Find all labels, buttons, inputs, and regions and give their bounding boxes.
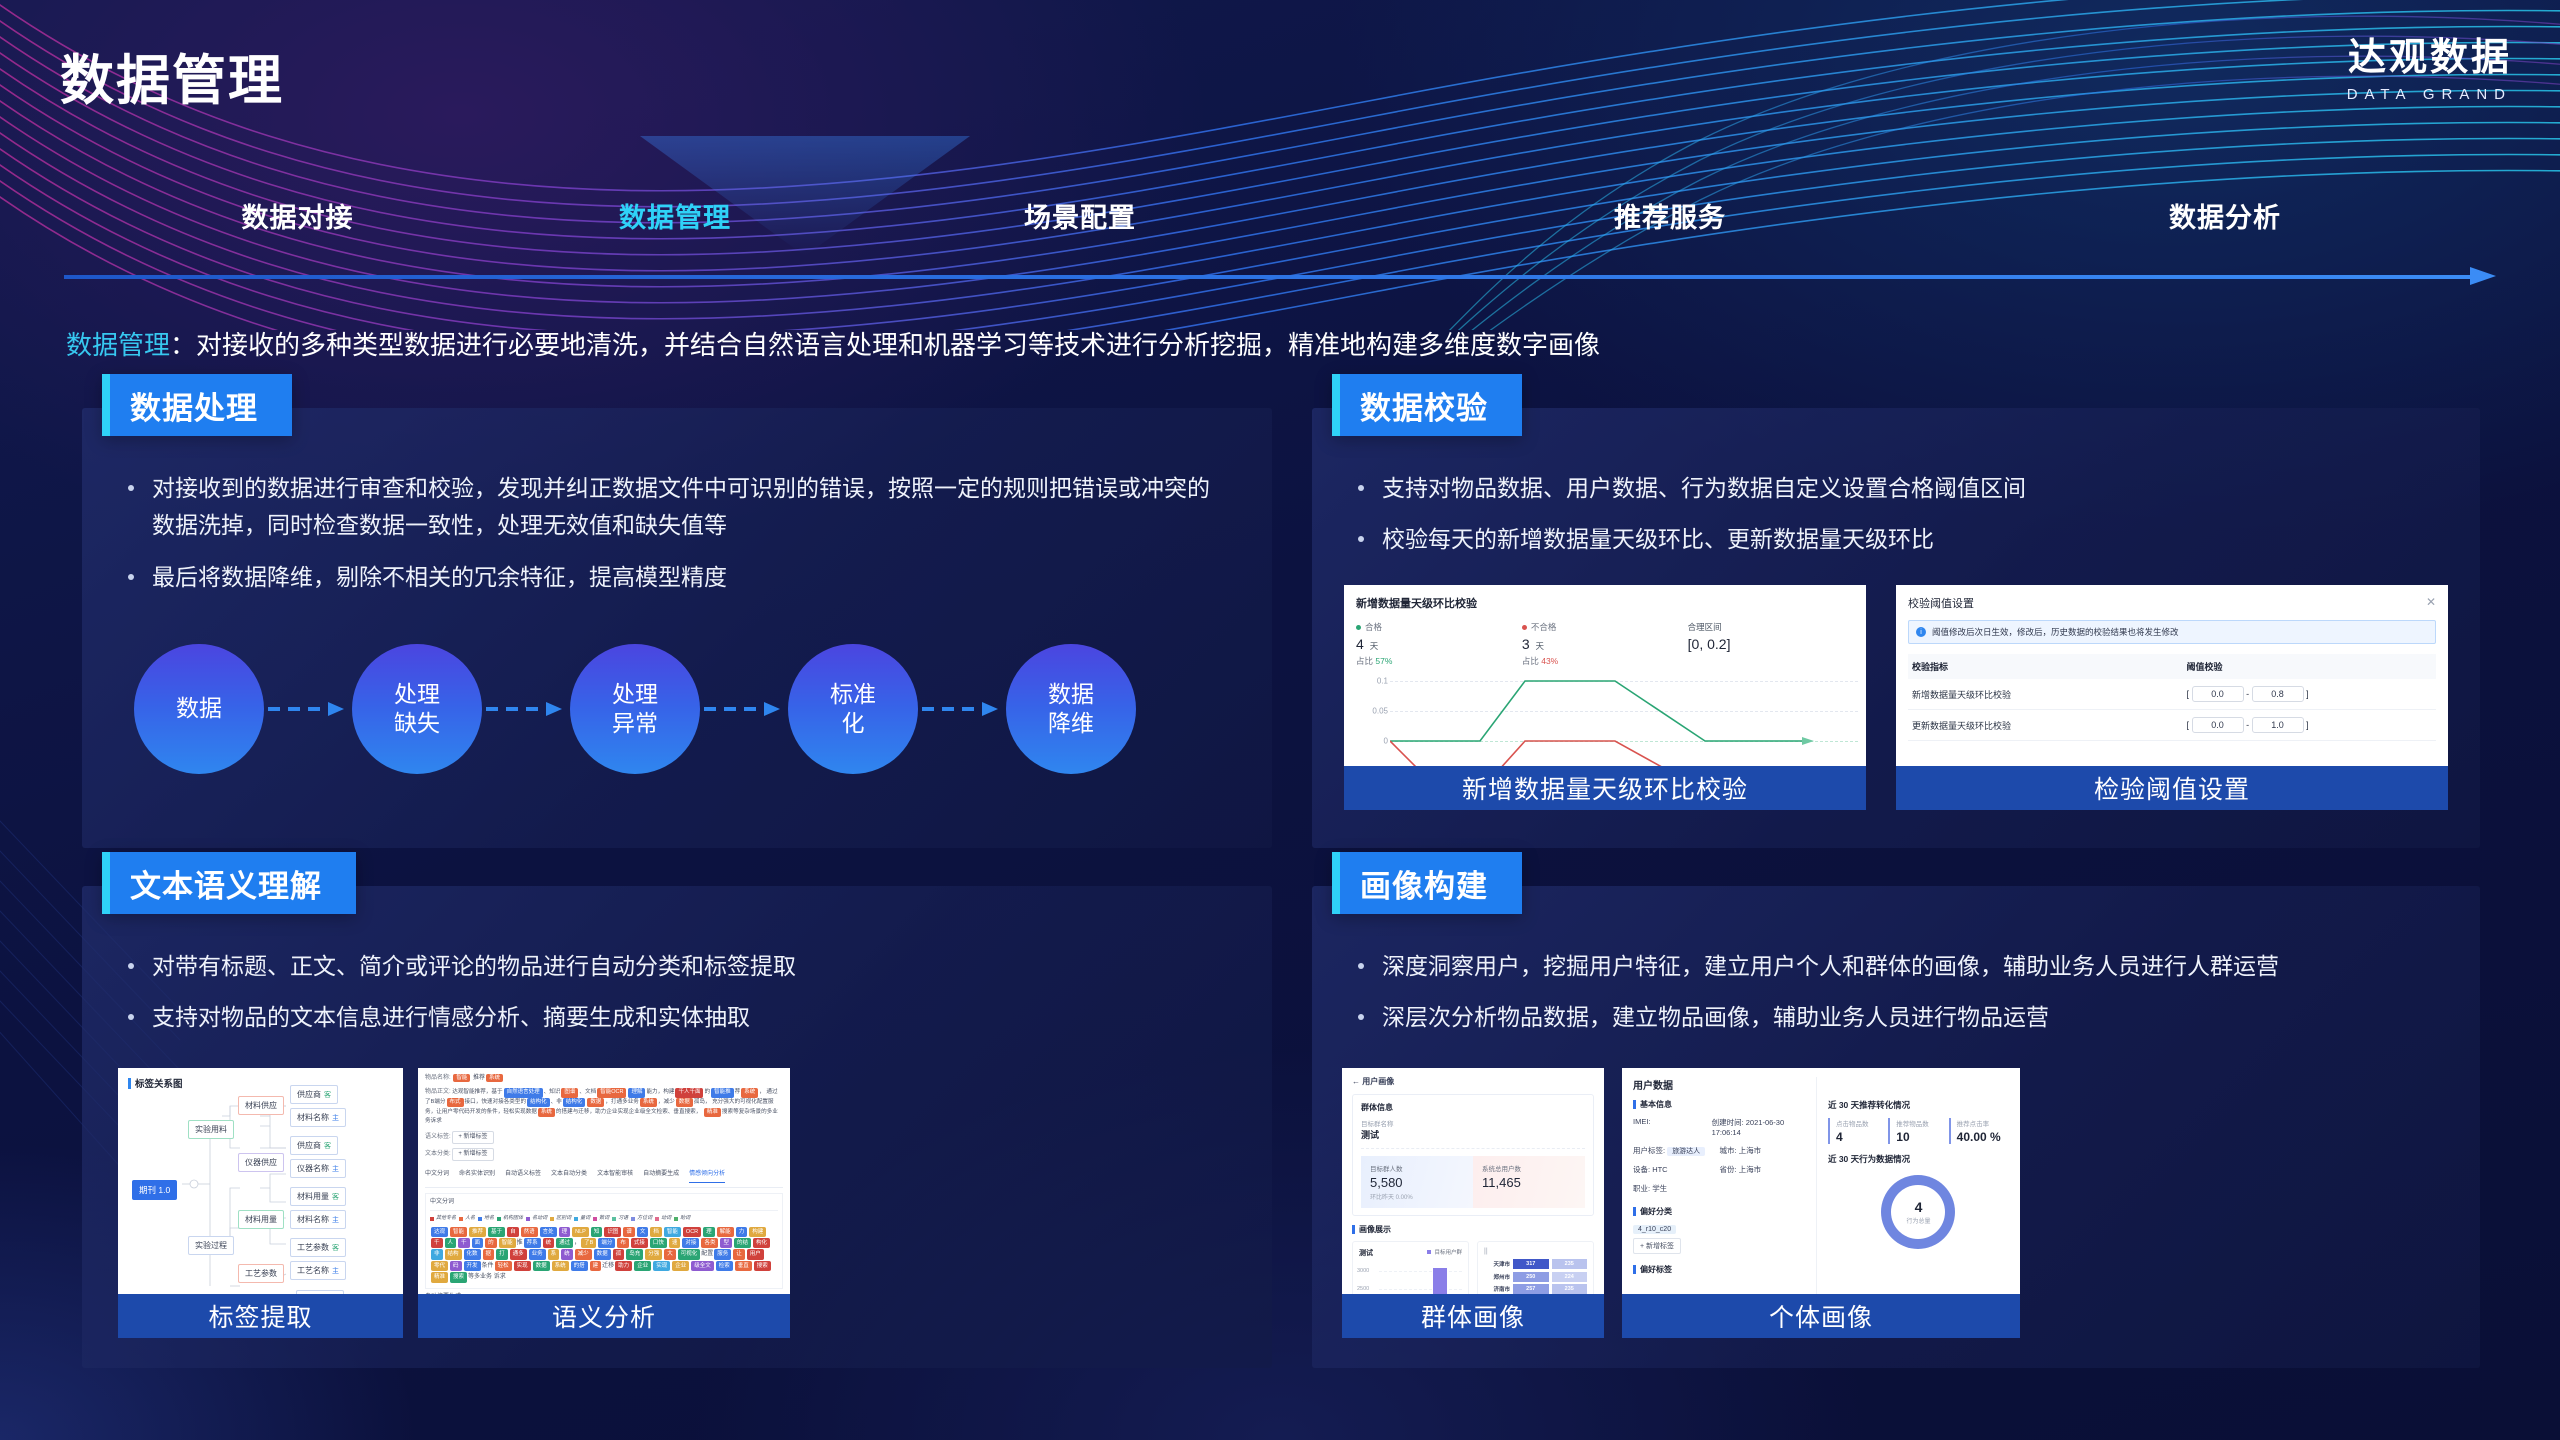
back-label: 用户画像 xyxy=(1362,1077,1394,1086)
table-row: 天津市317235 xyxy=(1484,1259,1587,1269)
metric-value: 40.00 % xyxy=(1957,1130,2009,1144)
y-tick-label: 2500 xyxy=(1357,1286,1369,1292)
stat-target-count: 目标群人数 5,580 环比昨天 0.00% xyxy=(1361,1156,1473,1208)
legend-entry: 量词 xyxy=(574,1215,590,1223)
range-label: 合理区间 xyxy=(1688,621,1722,633)
screenshot-tag-mindmap[interactable]: 标签关系图 xyxy=(118,1068,403,1338)
bullet-list-text-semantics: 对带有标题、正文、简介或评论的物品进行自动分类和标签提取 支持对物品的文本信息进… xyxy=(122,948,1244,1051)
mindmap-root-node: 期刊 1.0 xyxy=(132,1180,177,1200)
bullet-text: 深度洞察用户，挖掘用户特征，建立用户个人和群体的画像，辅助业务人员进行人群运营 xyxy=(1382,948,2279,985)
donut-center: 4 行为总量 xyxy=(1906,1199,1930,1225)
legend-pass-value: 4 xyxy=(1356,636,1364,652)
screenshot-caption: 检验阈值设置 xyxy=(1896,766,2448,810)
entity-chip: 系统 xyxy=(486,1074,503,1082)
arrow-left-icon: ← xyxy=(1352,1077,1360,1086)
basic-info-section-title: 基本信息 xyxy=(1633,1099,1806,1110)
card-text-semantics: 文本语义理解 对带有标题、正文、简介或评论的物品进行自动分类和标签提取 支持对物… xyxy=(82,886,1272,1368)
stat-total-users: 系统总用户数 11,465 xyxy=(1473,1156,1585,1208)
bullet-text: 深层次分析物品数据，建立物品画像，辅助业务人员进行物品运营 xyxy=(1382,999,2049,1036)
subtitle-text: 对接收的多种类型数据进行必要地清洗，并结合自然语言处理和机器学习等技术进行分析挖… xyxy=(196,330,1600,360)
legend-entry: 人名 xyxy=(459,1215,475,1223)
list-item: 对带有标题、正文、简介或评论的物品进行自动分类和标签提取 xyxy=(122,948,1244,985)
legend-entry: 动词 xyxy=(655,1215,671,1223)
text-class-label: 文本分类: xyxy=(425,1151,451,1157)
legend-pass-ratio-row: 占比 57% xyxy=(1356,655,1522,667)
flow-arrow-icon xyxy=(700,702,788,716)
legend-entry: 地名 xyxy=(478,1215,494,1223)
legend-fail-value: 3 xyxy=(1522,636,1530,652)
field-device: 设备: HTC xyxy=(1633,1164,1719,1175)
close-icon[interactable]: ✕ xyxy=(2426,595,2436,609)
bullet-dot-icon xyxy=(1358,536,1364,542)
mindmap-leaf: 材料名称主 xyxy=(290,1210,346,1229)
card-title-label: 画像构建 xyxy=(1360,861,1488,906)
flow-node-data: 数据 xyxy=(134,644,264,774)
legend-pass-label: 合格 xyxy=(1365,621,1382,633)
legend-entry: 名动词 xyxy=(526,1215,547,1223)
mindmap-leaf: 供应商客 xyxy=(290,1136,338,1155)
column-header-metric: 校验指标 xyxy=(1908,654,2183,679)
flow-arrow-icon xyxy=(264,702,352,716)
validation-chart-title: 新增数据量天级环比校验 xyxy=(1356,595,1854,611)
pos-legend: 其他专名 人名 地名 机构团体 名动词 区别词 量词 数词 习语 方位词 动词 … xyxy=(430,1215,778,1223)
legend-fail-label: 不合格 xyxy=(1531,621,1557,633)
card-title-label: 数据校验 xyxy=(1360,383,1488,428)
legend-entry: 方位词 xyxy=(631,1215,652,1223)
card-title-label: 文本语义理解 xyxy=(130,861,322,906)
panel-title: 中文分词 xyxy=(430,1198,778,1211)
semantic-tabs: 中文分词 命名实体识别 自动语义标签 文本自动分类 文本智能审核 自动摘要生成 … xyxy=(425,1166,783,1188)
conversion-metrics: 点击物品数 4 推荐物品数 10 推荐点击率 40.00 % xyxy=(1828,1118,2009,1144)
semantic-panel: 中文分词 其他专名 人名 地名 机构团体 名动词 区别词 量词 数词 习语 方位… xyxy=(425,1193,783,1288)
field-row: 用户标签: 旅游达人 城市: 上海市 xyxy=(1633,1145,1806,1156)
table-header-row: 校验指标 阈值校验 xyxy=(1908,654,2436,679)
user-data-title: 用户数据 xyxy=(1633,1077,1673,1092)
legend-fail-marker-icon xyxy=(1522,625,1527,630)
field-row: 职业: 学生 xyxy=(1633,1183,1806,1194)
y-tick-label: 3000 xyxy=(1357,1268,1369,1274)
info-icon: i xyxy=(1916,627,1926,637)
legend-entry: 其他专名 xyxy=(430,1215,456,1223)
table-row: 郑州市250224 xyxy=(1484,1272,1587,1282)
add-semantic-tag-button[interactable]: + 新增标签 xyxy=(452,1131,493,1144)
user-tag-badge: 旅游达人 xyxy=(1667,1147,1705,1156)
item-body-row: 物品正文: 达观智能推荐，基于自然语言处理、知识图谱、文档智能OCR理解能力，构… xyxy=(425,1087,783,1127)
semantic-tag-label: 语义标签: xyxy=(425,1134,451,1140)
basic-info-column: 基本信息 IMEI: 创建时间: 2021-06-30 17:06:14 用户标… xyxy=(1633,1077,1806,1329)
bullet-dot-icon xyxy=(128,485,134,491)
nav-item-data-docking[interactable]: 数据对接 xyxy=(0,196,595,235)
flow-node-label: 数据 降维 xyxy=(1048,680,1094,739)
item-body-label: 物品正文: xyxy=(425,1089,451,1095)
mindmap-leaf: 供应商客 xyxy=(290,1085,338,1104)
field-user-tag: 用户标签: 旅游达人 xyxy=(1633,1145,1719,1156)
range-label-row: 合理区间 xyxy=(1688,621,1854,633)
item-name-row: 物品名称: 智能 推荐系统 xyxy=(425,1074,783,1083)
dialog-title: 校验阈值设置 xyxy=(1908,595,2436,611)
legend-entry: 区别词 xyxy=(550,1215,571,1223)
metric-value: 4 xyxy=(1836,1130,1888,1144)
card-data-validation: 数据校验 支持对物品数据、用户数据、行为数据自定义设置合格阈值区间 校验每天的新… xyxy=(1312,408,2480,848)
subtitle-key: 数据管理 xyxy=(66,330,170,360)
legend-fail-ratio-row: 占比 43% xyxy=(1522,655,1688,667)
donut-value: 4 xyxy=(1906,1199,1930,1215)
flow-node-label: 处理 异常 xyxy=(612,680,658,739)
nav-arrow-bar xyxy=(64,275,2472,279)
tab-auto-classification[interactable]: 文本自动分类 xyxy=(551,1170,587,1183)
stat-value: 11,465 xyxy=(1482,1175,1576,1190)
metric-label: 推荐点击率 xyxy=(1957,1118,2009,1128)
cell-metric: 更新数据量天级环比校验 xyxy=(1908,710,2183,741)
back-button[interactable]: ← 用户画像 xyxy=(1352,1076,1594,1087)
nav-item-data-analysis[interactable]: 数据分析 xyxy=(1935,196,2515,235)
screenshot-group-portrait[interactable]: ← 用户画像 群体信息 目标群名称 测试 目标群人数 5,580 环比昨天 0.… xyxy=(1342,1068,1604,1338)
screenshot-semantic-analysis[interactable]: 物品名称: 智能 推荐系统 物品正文: 达观智能推荐，基于自然语言处理、知识图谱… xyxy=(418,1068,790,1338)
tab-chinese-segmentation[interactable]: 中文分词 xyxy=(425,1170,449,1183)
card-title-label: 数据处理 xyxy=(130,383,258,428)
bullet-text: 最后将数据降维，剔除不相关的冗余特征，提高模型精度 xyxy=(152,559,727,596)
list-item: 对接收到的数据进行审查和校验，发现并纠正数据文件中可识别的错误，按照一定的规则把… xyxy=(122,470,1244,545)
nav-arrow-head-icon xyxy=(2470,267,2496,285)
group-info-title: 群体信息 xyxy=(1361,1102,1585,1113)
nav-item-data-management[interactable]: 数据管理 xyxy=(595,196,755,235)
bullet-list-portrait: 深度洞察用户，挖掘用户特征，建立用户个人和群体的画像，辅助业务人员进行人群运营 … xyxy=(1352,948,2452,1051)
screenshot-caption: 新增数据量天级环比校验 xyxy=(1344,766,1866,810)
legend-pass-label-row: 合格 xyxy=(1356,621,1522,633)
mindmap-leaf: 工艺名称主 xyxy=(290,1261,346,1280)
legend-fail: 不合格 3 天 占比 43% xyxy=(1522,621,1688,667)
bullet-text: 对接收到的数据进行审查和校验，发现并纠正数据文件中可识别的错误，按照一定的规则把… xyxy=(152,470,1212,545)
card-title-data-processing: 数据处理 xyxy=(102,374,292,436)
flow-node-missing: 处理 缺失 xyxy=(352,644,482,774)
screenshot-individual-portrait[interactable]: 用户数据 基本信息 IMEI: 创建时间: 2021-06-30 17:06:1… xyxy=(1622,1068,2020,1338)
section-subtitle: 数据管理：对接收的多种类型数据进行必要地清洗，并结合自然语言处理和机器学习等技术… xyxy=(66,325,1600,362)
bullet-text: 对带有标题、正文、简介或评论的物品进行自动分类和标签提取 xyxy=(152,948,796,985)
bullet-text: 支持对物品的文本信息进行情感分析、摘要生成和实体抽取 xyxy=(152,999,750,1036)
bullet-dot-icon xyxy=(1358,485,1364,491)
process-flow-diagram: 数据 处理 缺失 处理 异常 标准 化 数据 降维 xyxy=(134,644,1136,774)
behaviour-section-title: 近 30 天行为数据情况 xyxy=(1828,1153,2009,1165)
legend-pass-unit: 天 xyxy=(1370,641,1379,651)
mindmap-leaf: 仪器名称主 xyxy=(290,1159,346,1178)
list-item: 校验每天的新增数据量天级环比、更新数据量天级环比 xyxy=(1352,521,2452,558)
bullet-dot-icon xyxy=(128,1014,134,1020)
flow-arrow-icon xyxy=(918,702,1006,716)
screenshot-caption: 语义分析 xyxy=(418,1294,790,1338)
field-row: IMEI: 创建时间: 2021-06-30 17:06:14 xyxy=(1633,1117,1806,1137)
threshold-max-input[interactable]: 1.0 xyxy=(2252,717,2304,733)
behaviour-column: 近 30 天推荐转化情况 点击物品数 4 推荐物品数 10 推荐点击率 40.0 xyxy=(1816,1077,2009,1329)
pref-tag-section-title: 偏好标签 xyxy=(1633,1264,1806,1275)
legend-marker-icon xyxy=(1427,1250,1431,1254)
table-row: 更新数据量天级环比校验 [ 0.0 - 1.0 ] xyxy=(1908,710,2436,741)
group-name-label: 目标群名称 xyxy=(1361,1118,1585,1128)
flow-node-standardize: 标准 化 xyxy=(788,644,918,774)
group-stats: 目标群人数 5,580 环比昨天 0.00% 系统总用户数 11,465 xyxy=(1361,1148,1585,1208)
bullet-list-data-validation: 支持对物品数据、用户数据、行为数据自定义设置合格阈值区间 校验每天的新增数据量天… xyxy=(1352,470,2452,573)
nav-progress-arrow xyxy=(64,274,2496,280)
legend-pass: 合格 4 天 占比 57% xyxy=(1356,621,1522,667)
field-province: 省份: 上海市 xyxy=(1719,1164,1761,1175)
legend-pass-ratio: 57% xyxy=(1375,656,1392,666)
stat-value: 5,580 xyxy=(1370,1175,1464,1190)
bullet-dot-icon xyxy=(128,963,134,969)
flow-node-label: 处理 缺失 xyxy=(394,680,440,739)
text-class-row: 文本分类: + 新增标签 xyxy=(425,1148,783,1161)
pref-class-section-title: 偏好分类 xyxy=(1633,1206,1806,1217)
tab-ner[interactable]: 命名实体识别 xyxy=(459,1170,495,1183)
tab-auto-summary[interactable]: 自动摘要生成 xyxy=(643,1170,679,1183)
y-tick-label: 0.1 xyxy=(1377,677,1388,686)
portrait-display-section-title: 画像展示 xyxy=(1352,1224,1594,1235)
stat-label: 系统总用户数 xyxy=(1482,1163,1576,1173)
y-tick-label: 0 xyxy=(1384,737,1388,746)
mindmap-node-l2: 工艺参数 xyxy=(238,1264,284,1283)
legend-pass-value-row: 4 天 xyxy=(1356,636,1522,652)
field-imei: IMEI: xyxy=(1633,1117,1712,1137)
gridline xyxy=(1379,1271,1462,1272)
list-item: 最后将数据降维，剔除不相关的冗余特征，提高模型精度 xyxy=(122,559,1244,596)
card-portrait-building: 画像构建 深度洞察用户，挖掘用户特征，建立用户个人和群体的画像，辅助业务人员进行… xyxy=(1312,886,2480,1368)
screenshot-validation-chart[interactable]: 新增数据量天级环比校验 合格 4 天 占比 57% xyxy=(1344,585,1866,810)
flow-arrow-icon xyxy=(482,702,570,716)
bullet-text: 支持对物品数据、用户数据、行为数据自定义设置合格阈值区间 xyxy=(1382,470,2026,507)
field-row: 设备: HTC 省份: 上海市 xyxy=(1633,1164,1806,1175)
bullet-dot-icon xyxy=(128,574,134,580)
mindmap-node-l2: 仪器供应 xyxy=(238,1153,284,1172)
mindmap-node-l2: 材料供应 xyxy=(238,1096,284,1115)
metric-ctr: 推荐点击率 40.00 % xyxy=(1949,1118,2009,1144)
bullet-dot-icon xyxy=(1358,963,1364,969)
metric-value: 10 xyxy=(1896,1130,1948,1144)
field-city: 城市: 上海市 xyxy=(1719,1145,1761,1156)
group-name-value: 测试 xyxy=(1361,1128,1585,1141)
legend-pass-marker-icon xyxy=(1356,625,1361,630)
donut-label: 行为总量 xyxy=(1906,1216,1930,1225)
dialog-notice-text: 阈值修改后次日生效，修改后，历史数据的校验结果也将发生修改 xyxy=(1932,626,2179,638)
list-item: 支持对物品的文本信息进行情感分析、摘要生成和实体抽取 xyxy=(122,999,1244,1036)
token-stream: 达观智能推荐基于自然语言处理NLP知识图谱文档智能OCR理解能力构建千人千面的智… xyxy=(430,1227,778,1284)
mindmap-leaf: 工艺参数客 xyxy=(290,1238,346,1257)
range-value-row: [0, 0.2] xyxy=(1688,636,1854,652)
column-header-threshold: 阈值校验 xyxy=(2183,654,2436,679)
cell-threshold: [ 0.0 - 1.0 ] xyxy=(2183,710,2436,741)
add-class-tag-button[interactable]: + 新增标签 xyxy=(452,1148,493,1161)
legend-label: 目标用户群 xyxy=(1434,1248,1462,1256)
mindmap-node-l1: 实验用料 xyxy=(188,1120,234,1139)
metric-label: 推荐物品数 xyxy=(1896,1118,1948,1128)
entity-chip: 智能 xyxy=(453,1074,470,1082)
card-title-text-semantics: 文本语义理解 xyxy=(102,852,356,914)
card-title-portrait-building: 画像构建 xyxy=(1332,852,1522,914)
range-value: [0, 0.2] xyxy=(1688,636,1731,652)
legend-entry: 数词 xyxy=(593,1215,609,1223)
bar-chart-legend: 目标用户群 xyxy=(1427,1248,1462,1256)
field-created: 创建时间: 2021-06-30 17:06:14 xyxy=(1712,1117,1806,1137)
tab-smart-review[interactable]: 文本智能审核 xyxy=(597,1170,633,1183)
legend-fail-unit: 天 xyxy=(1536,641,1545,651)
subtitle-separator: ： xyxy=(170,330,196,360)
threshold-max-input[interactable]: 0.8 xyxy=(2252,686,2304,702)
flow-node-dimension-reduction: 数据 降维 xyxy=(1006,644,1136,774)
stat-delta: 环比昨天 0.00% xyxy=(1370,1192,1464,1201)
bullet-dot-icon xyxy=(1358,1014,1364,1020)
legend-fail-ratio: 43% xyxy=(1541,656,1558,666)
y-tick-label: 0.05 xyxy=(1372,707,1388,716)
threshold-table: 校验指标 阈值校验 新增数据量天级环比校验 [ 0.0 - 0.8 ] 更新数据… xyxy=(1908,654,2436,741)
gridline xyxy=(1379,1289,1462,1290)
metric-click-items: 点击物品数 4 xyxy=(1828,1118,1888,1144)
page-title: 数据管理 xyxy=(60,36,284,115)
threshold-min-input[interactable]: 0.0 xyxy=(2192,717,2244,733)
validation-chart-legend: 合格 4 天 占比 57% 不 xyxy=(1356,621,1854,667)
pref-class-tags: 4_r10_c20 + 新增标签 xyxy=(1633,1224,1806,1254)
list-item: 深度洞察用户，挖掘用户特征，建立用户个人和群体的画像，辅助业务人员进行人群运营 xyxy=(1352,948,2452,985)
screenshot-caption: 个体画像 xyxy=(1622,1294,2020,1338)
mindmap-leaf: 材料用量客 xyxy=(290,1187,346,1206)
flow-node-label: 标准 化 xyxy=(830,680,876,739)
item-name-label: 物品名称: xyxy=(425,1075,451,1081)
bullet-list-data-processing: 对接收到的数据进行审查和校验，发现并纠正数据文件中可识别的错误，按照一定的规则把… xyxy=(122,470,1244,610)
brand-logo: 达观数据 DATA GRAND xyxy=(2347,38,2512,103)
legend-entry: 习语 xyxy=(612,1215,628,1223)
group-info-box: 群体信息 目标群名称 测试 目标群人数 5,580 环比昨天 0.00% 系统总… xyxy=(1352,1094,1594,1216)
list-item: 深层次分析物品数据，建立物品画像，辅助业务人员进行物品运营 xyxy=(1352,999,2452,1036)
threshold-min-input[interactable]: 0.0 xyxy=(2192,686,2244,702)
legend-range: 合理区间 [0, 0.2] xyxy=(1688,621,1854,667)
behaviour-donut-chart: 4 行为总量 xyxy=(1881,1175,1955,1249)
mindmap-node-l2: 材料用量 xyxy=(238,1210,284,1229)
brand-name-cn: 达观数据 xyxy=(2347,38,2512,80)
metric-recommended-items: 推荐物品数 10 xyxy=(1888,1118,1948,1144)
tab-sentiment-analysis[interactable]: 情感倾向分析 xyxy=(689,1170,725,1183)
bullet-text: 校验每天的新增数据量天级环比、更新数据量天级环比 xyxy=(1382,521,1934,558)
legend-entry: 助词 xyxy=(674,1215,690,1223)
brand-name-en: DATA GRAND xyxy=(2347,86,2512,103)
list-item: 支持对物品数据、用户数据、行为数据自定义设置合格阈值区间 xyxy=(1352,470,2452,507)
dialog-notice: i 阈值修改后次日生效，修改后，历史数据的校验结果也将发生修改 xyxy=(1908,620,2436,644)
flow-node-label: 数据 xyxy=(176,694,222,723)
field-occupation: 职业: 学生 xyxy=(1633,1183,1719,1194)
section-nav: 数据对接 数据管理 场景配置 推荐服务 数据分析 xyxy=(0,196,2560,286)
nav-item-scene-config[interactable]: 场景配置 xyxy=(755,196,1405,235)
semantic-tag-row: 语义标签: + 新增标签 xyxy=(425,1131,783,1144)
legend-entry: 机构团体 xyxy=(497,1215,523,1223)
metric-label: 点击物品数 xyxy=(1836,1118,1888,1128)
mindmap-leaf: 材料名称主 xyxy=(290,1108,346,1127)
table-row: 济南市257235 xyxy=(1484,1284,1587,1294)
nav-item-recommend-service[interactable]: 推荐服务 xyxy=(1405,196,1935,235)
screenshot-threshold-dialog[interactable]: 校验阈值设置 ✕ i 阈值修改后次日生效，修改后，历史数据的校验结果也将发生修改… xyxy=(1896,585,2448,810)
stat-label: 目标群人数 xyxy=(1370,1163,1464,1173)
screenshot-caption: 标签提取 xyxy=(118,1294,403,1338)
heatmap-title: || xyxy=(1484,1248,1587,1255)
legend-fail-label-row: 不合格 xyxy=(1522,621,1688,633)
add-tag-button[interactable]: + 新增标签 xyxy=(1633,1238,1681,1254)
mindmap-node-l1: 实验过程 xyxy=(188,1236,234,1255)
screenshot-caption: 群体画像 xyxy=(1342,1294,1604,1338)
legend-fail-ratio-label: 占比 xyxy=(1522,656,1539,666)
card-title-data-validation: 数据校验 xyxy=(1332,374,1522,436)
legend-fail-value-row: 3 天 xyxy=(1522,636,1688,652)
nav-items: 数据对接 数据管理 场景配置 推荐服务 数据分析 xyxy=(0,196,2560,235)
tab-auto-semantic-tag[interactable]: 自动语义标签 xyxy=(505,1170,541,1183)
flow-node-anomaly: 处理 异常 xyxy=(570,644,700,774)
legend-pass-ratio-label: 占比 xyxy=(1356,656,1373,666)
conversion-section-title: 近 30 天推荐转化情况 xyxy=(1828,1099,2009,1111)
cell-metric: 新增数据量天级环比校验 xyxy=(1908,679,2183,710)
table-row: 新增数据量天级环比校验 [ 0.0 - 0.8 ] xyxy=(1908,679,2436,710)
cell-threshold: [ 0.0 - 0.8 ] xyxy=(2183,679,2436,710)
card-data-processing: 数据处理 对接收到的数据进行审查和校验，发现并纠正数据文件中可识别的错误，按照一… xyxy=(82,408,1272,848)
pref-class-tag: 4_r10_c20 xyxy=(1633,1225,1676,1234)
